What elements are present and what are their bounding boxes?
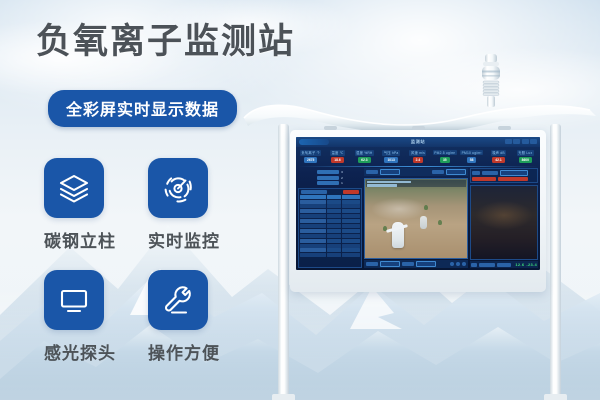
table-row[interactable] <box>299 239 361 243</box>
video-figure-secondary <box>420 216 427 229</box>
status-chip <box>479 263 495 267</box>
product-promo-image: 负氧离子监测站 全彩屏实时显示数据 碳钢立柱 <box>0 0 600 400</box>
metric-card: 风速 m/s2.4 <box>405 148 430 165</box>
layers-icon <box>44 158 104 218</box>
wrench-icon <box>148 270 208 330</box>
feature-item-steel-post[interactable]: 碳钢立柱 <box>44 158 148 252</box>
metric-card: PM2.5 ug/m³35 <box>432 148 457 165</box>
center-column <box>364 168 468 268</box>
metric-value: 2675 <box>304 157 317 163</box>
table-row[interactable] <box>299 200 361 204</box>
status-chip <box>497 263 512 267</box>
panel-label <box>472 171 480 175</box>
live-video-feed[interactable] <box>364 178 468 259</box>
cell-value <box>342 248 360 252</box>
cell-time <box>300 209 326 213</box>
column-header-value <box>342 195 360 199</box>
table-row[interactable] <box>299 219 361 223</box>
metric-value: 42.1 <box>492 157 504 163</box>
column-header-time <box>300 195 326 199</box>
mount-tab <box>324 126 337 130</box>
cell-site <box>327 204 340 208</box>
video-toolbar-top[interactable] <box>364 168 468 176</box>
metric-label: PM10 ug/m³ <box>460 150 483 155</box>
metric-label: PM2.5 ug/m³ <box>433 150 457 155</box>
reading-value-1: 12.6 <box>515 262 524 267</box>
cell-time <box>300 219 326 223</box>
cell-time <box>300 234 326 238</box>
alert-badges <box>472 177 536 181</box>
metric-card: PM10 ug/m³58 <box>459 148 484 165</box>
radar-icon <box>148 158 208 218</box>
metric-value: 8600 <box>519 157 532 163</box>
feature-item-easy-operation[interactable]: 操作方便 <box>148 270 252 364</box>
metric-label: 温度 ℃ <box>330 150 345 156</box>
tool-button[interactable] <box>513 139 520 144</box>
cell-time <box>300 239 326 243</box>
kpi-item: 2 <box>304 176 356 180</box>
metric-value: 35 <box>440 157 450 163</box>
cell-value <box>342 204 360 208</box>
metric-value: 58 <box>467 157 477 163</box>
playback-button[interactable] <box>450 262 454 266</box>
header-tools[interactable] <box>505 139 538 144</box>
monitor-icon <box>44 270 104 330</box>
cell-time <box>300 224 326 228</box>
cell-site <box>327 219 340 223</box>
camera-select[interactable] <box>380 169 400 175</box>
metric-value: 18.6 <box>331 157 343 163</box>
cell-time <box>300 244 326 248</box>
post-base-right <box>544 394 567 400</box>
mode-select[interactable] <box>446 169 466 175</box>
table-row[interactable] <box>299 214 361 218</box>
table-row[interactable] <box>299 244 361 248</box>
mount-tab <box>412 126 425 130</box>
tool-button[interactable] <box>522 139 529 144</box>
panel-controls[interactable] <box>472 170 536 176</box>
video-toolbar-bottom[interactable] <box>364 260 468 268</box>
metric-label: 光照 Lux <box>517 150 534 156</box>
post-base-left <box>272 394 295 400</box>
preset-select[interactable] <box>380 261 400 267</box>
cell-site <box>327 244 340 248</box>
metric-label: 噪声 dB <box>491 150 507 156</box>
cell-site <box>327 253 340 257</box>
panel-search[interactable] <box>500 170 528 176</box>
left-column: 3 2 1 <box>298 168 362 268</box>
cell-time <box>300 200 326 204</box>
kpi-item: 1 <box>304 181 356 185</box>
metric-card: 湿度 %RH62.3 <box>352 148 377 165</box>
right-status-bar: 12.6 -23.4 <box>470 261 538 268</box>
feature-grid: 碳钢立柱 实时监控 <box>44 158 252 364</box>
feature-item-live-monitoring[interactable]: 实时监控 <box>148 158 252 252</box>
table-row[interactable] <box>299 204 361 208</box>
metric-label: 风速 m/s <box>409 150 426 156</box>
table-alert-badge <box>343 190 359 194</box>
support-post-left <box>278 124 289 398</box>
shrub <box>424 205 428 210</box>
dashboard-title: 监测站 <box>411 139 425 145</box>
kpi-item: 3 <box>304 170 356 174</box>
alert-panel <box>470 168 538 183</box>
overlay-line <box>367 184 397 187</box>
dashboard-screen[interactable]: 监测站 负氧离子 个2675温度 ℃18.6湿度 %RH62.3气压 hPa10… <box>296 137 540 270</box>
toolbar-label <box>366 170 378 174</box>
table-row[interactable] <box>299 229 361 233</box>
feature-label: 操作方便 <box>148 339 252 364</box>
speed-select[interactable] <box>416 261 436 267</box>
tool-button[interactable] <box>505 139 512 144</box>
table-body <box>299 200 361 259</box>
display-enclosure: 监测站 负氧离子 个2675温度 ℃18.6湿度 %RH62.3气压 hPa10… <box>290 130 546 292</box>
shrub <box>438 220 442 225</box>
metric-value: 2.4 <box>413 157 424 163</box>
cell-time <box>300 214 326 218</box>
metric-card: 气压 hPa1013 <box>378 148 403 165</box>
metric-card: 温度 ℃18.6 <box>325 148 350 165</box>
cell-value <box>342 244 360 248</box>
table-row[interactable] <box>299 209 361 213</box>
cell-site <box>327 234 340 238</box>
cell-site <box>327 224 340 228</box>
table-row[interactable] <box>299 248 361 252</box>
metric-label: 湿度 %RH <box>355 150 374 156</box>
status-chip <box>471 263 477 267</box>
cell-value <box>342 234 360 238</box>
snapshot-button[interactable] <box>456 262 460 266</box>
cell-value <box>342 200 360 204</box>
column-header-site <box>327 195 340 199</box>
cell-value <box>342 224 360 228</box>
data-table[interactable] <box>298 188 362 269</box>
right-column: 12.6 -23.4 <box>470 168 538 268</box>
cell-site <box>327 200 340 204</box>
metric-label: 气压 hPa <box>382 150 400 156</box>
cell-site <box>327 229 340 233</box>
cell-time <box>300 253 326 257</box>
cell-value <box>342 253 360 257</box>
cell-time <box>300 204 326 208</box>
metric-label: 负氧离子 个 <box>300 150 322 156</box>
divider <box>298 166 538 167</box>
feature-label: 实时监控 <box>148 227 252 252</box>
header-logo <box>299 139 329 145</box>
reading-value-2: -23.4 <box>526 262 537 267</box>
cell-site <box>327 214 340 218</box>
video-overlay <box>366 180 466 187</box>
feature-label: 碳钢立柱 <box>44 227 148 252</box>
secondary-video-feed[interactable] <box>470 185 538 260</box>
cell-time <box>300 229 326 233</box>
video-figure-person <box>392 222 404 248</box>
toolbar-label <box>402 262 414 266</box>
monitoring-station: 监测站 负氧离子 个2675温度 ℃18.6湿度 %RH62.3气压 hPa10… <box>238 44 600 400</box>
metric-row: 负氧离子 个2675温度 ℃18.6湿度 %RH62.3气压 hPa1013风速… <box>298 148 538 165</box>
cell-site <box>327 239 340 243</box>
metric-card: 光照 Lux8600 <box>513 148 538 165</box>
metric-card: 负氧离子 个2675 <box>298 148 323 165</box>
metric-card: 噪声 dB42.1 <box>486 148 511 165</box>
metric-value: 62.3 <box>358 157 370 163</box>
dashboard-body: 3 2 1 <box>298 168 538 268</box>
table-row[interactable] <box>299 224 361 228</box>
toolbar-label <box>366 262 378 266</box>
alert-badge-overlimit <box>472 177 496 181</box>
fullscreen-button[interactable] <box>462 262 466 266</box>
support-post-right <box>550 124 561 398</box>
alert-badge-offline <box>498 177 528 181</box>
feature-label: 感光探头 <box>44 339 148 364</box>
subtitle-badge: 全彩屏实时显示数据 <box>48 90 237 127</box>
cell-value <box>342 219 360 223</box>
cell-time <box>300 248 326 252</box>
cell-site <box>327 248 340 252</box>
metric-value: 1013 <box>384 157 397 163</box>
cell-value <box>342 239 360 243</box>
toolbar-label <box>432 170 444 174</box>
table-row[interactable] <box>299 253 361 257</box>
cell-value <box>342 214 360 218</box>
panel-field[interactable] <box>482 171 498 175</box>
overlay-line <box>367 181 411 184</box>
table-row[interactable] <box>299 234 361 238</box>
feature-item-light-sensor[interactable]: 感光探头 <box>44 270 148 364</box>
kpi-list: 3 2 1 <box>298 168 362 186</box>
mount-tab <box>498 126 511 130</box>
tool-button[interactable] <box>530 139 537 144</box>
cell-value <box>342 229 360 233</box>
table-title <box>301 190 327 194</box>
cell-value <box>342 209 360 213</box>
dashboard-header: 监测站 <box>296 137 540 147</box>
cell-site <box>327 209 340 213</box>
